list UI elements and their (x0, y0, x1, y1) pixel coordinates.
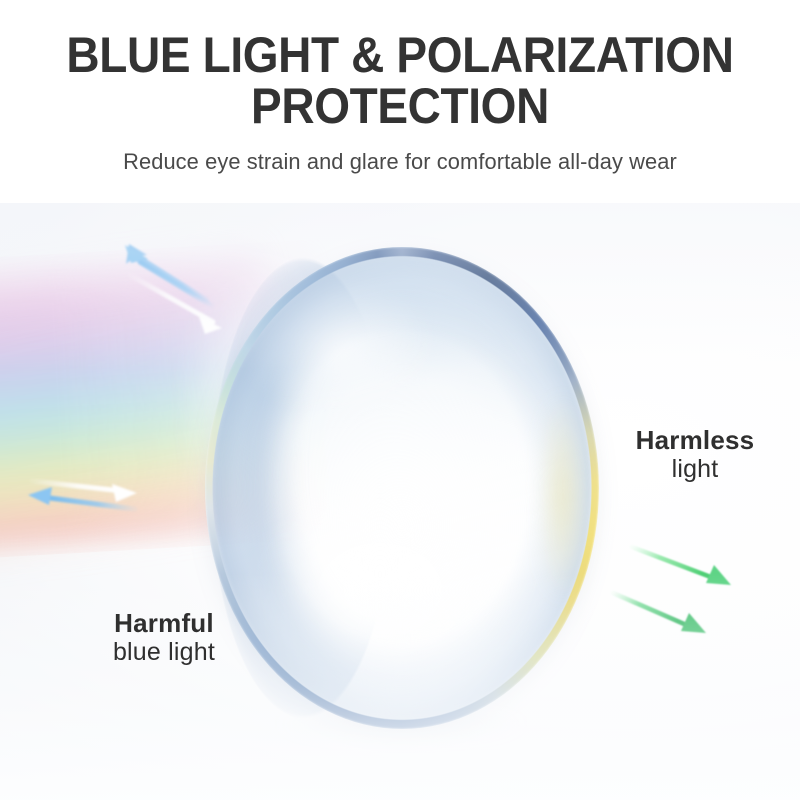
product-feature-banner: BLUE LIGHT & POLARIZATION PROTECTION Red… (0, 0, 800, 800)
label-harmless-light: light (600, 455, 790, 484)
label-harmless-strong: Harmless (600, 425, 790, 455)
illustration-scene: Harmful blue light Harmless light (0, 203, 800, 800)
header-block: BLUE LIGHT & POLARIZATION PROTECTION Red… (0, 0, 800, 203)
label-harmful-light: blue light (54, 638, 274, 667)
label-harmful-strong: Harmful (54, 608, 274, 638)
arrow-green-pass-upper-icon (632, 547, 731, 585)
page-subtitle: Reduce eye strain and glare for comforta… (12, 132, 788, 175)
page-title: BLUE LIGHT & POLARIZATION PROTECTION (32, 30, 768, 132)
label-harmless-light: Harmless light (600, 425, 790, 484)
label-harmful-blue-light: Harmful blue light (54, 608, 274, 667)
arrow-green-pass-lower-icon (613, 593, 706, 633)
